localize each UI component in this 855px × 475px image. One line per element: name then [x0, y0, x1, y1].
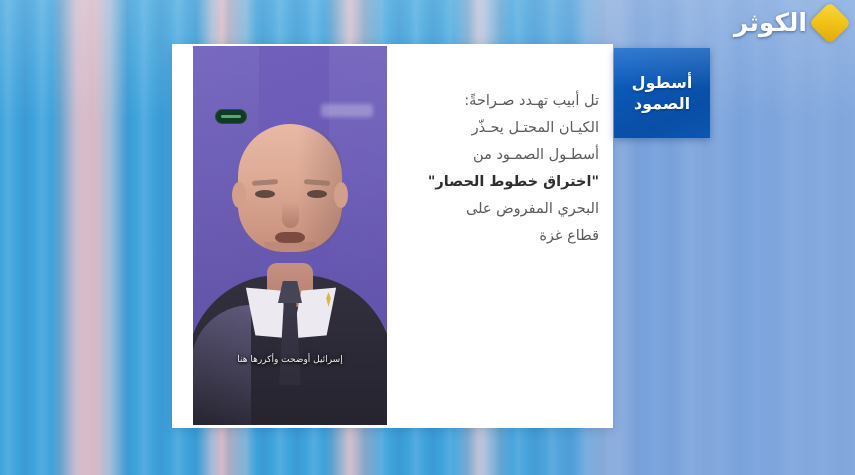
person-eye-left: [255, 190, 275, 198]
blurred-watermark-icon: [321, 104, 373, 117]
topic-badge-line-1: أسطول: [632, 72, 693, 93]
green-channel-bug-icon: [215, 109, 247, 124]
headline-line-6: قطاع غزة: [403, 223, 599, 250]
headline-line-4: "اختراق خطوط الحصار": [403, 169, 599, 196]
headline-line-2: الكيـان المحتـل يحـذّر: [403, 115, 599, 142]
person-ear-right: [334, 182, 348, 208]
content-card: إسرائيل أوضحت وأكررها هنا تل أبيب تهـدد …: [172, 44, 613, 428]
topic-badge: أسطول الصمود: [614, 48, 710, 138]
gold-diamond-icon: [809, 2, 851, 44]
person-chin: [264, 242, 316, 258]
channel-logo: الكوثر: [734, 8, 845, 38]
headline-text-block: تل أبيب تهـدد صـراحةً: الكيـان المحتـل ي…: [403, 88, 599, 250]
broadcast-frame: إسرائيل أوضحت وأكررها هنا تل أبيب تهـدد …: [0, 0, 855, 475]
video-subtitle-text: إسرائيل أوضحت وأكررها هنا: [237, 354, 342, 366]
person-head: [238, 124, 342, 252]
headline-line-5: البحري المفروض على: [403, 196, 599, 223]
headline-line-1: تل أبيب تهـدد صـراحةً:: [403, 88, 599, 115]
person-nose: [282, 202, 299, 228]
video-still[interactable]: إسرائيل أوضحت وأكررها هنا: [193, 46, 387, 425]
video-subtitle-band: إسرائيل أوضحت وأكررها هنا: [201, 347, 379, 366]
person-eye-right: [307, 190, 327, 198]
headline-line-3: أسطـول الصمـود من: [403, 142, 599, 169]
channel-logo-text: الكوثر: [734, 8, 807, 38]
person-ear-left: [232, 182, 246, 208]
person-brow-left: [252, 179, 278, 186]
topic-badge-line-2: الصمود: [634, 93, 690, 114]
